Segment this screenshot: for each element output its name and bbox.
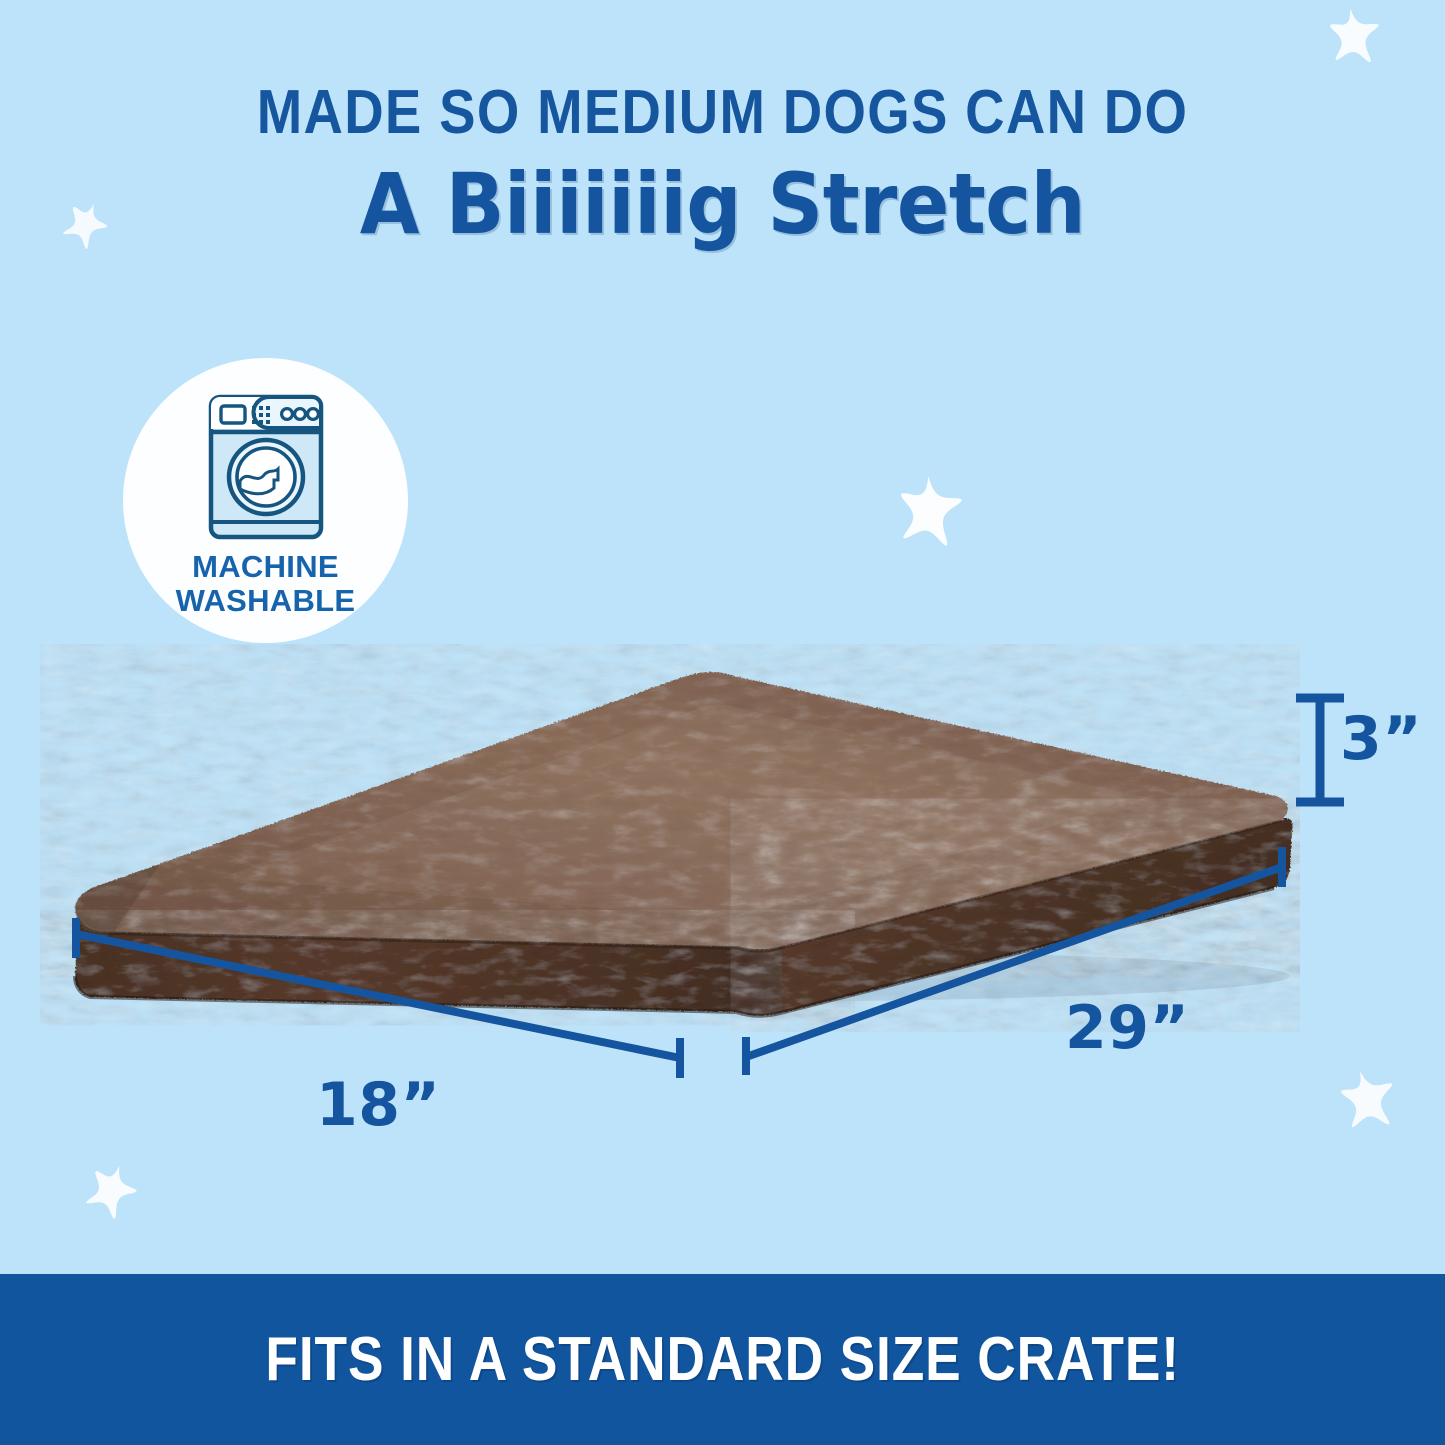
- headline-primary: MADE SO MEDIUM DOGS CAN DO: [87, 78, 1359, 148]
- badge-label-line1: MACHINE: [192, 549, 339, 584]
- dimension-label-length: 29”: [1065, 993, 1189, 1063]
- bottom-banner: FITS IN A STANDARD SIZE CRATE!: [0, 1274, 1445, 1445]
- background-star: [1319, 0, 1393, 73]
- dog-bed-product-image: [40, 620, 1300, 1040]
- washing-machine-icon: [207, 393, 325, 541]
- machine-washable-label: MACHINE WASHABLE: [176, 550, 356, 618]
- background-star: [889, 468, 975, 554]
- infographic-canvas: MADE SO MEDIUM DOGS CAN DO A Biiiiiiig S…: [0, 0, 1445, 1445]
- dimension-label-width: 18”: [316, 1070, 440, 1140]
- headline-secondary: A Biiiiiiig Stretch: [58, 154, 1387, 254]
- dimension-label-height: 3”: [1340, 704, 1422, 774]
- badge-label-line2: WASHABLE: [176, 583, 356, 618]
- banner-text: FITS IN A STANDARD SIZE CRATE!: [265, 1324, 1179, 1395]
- background-star: [1328, 1057, 1413, 1142]
- headline-block: MADE SO MEDIUM DOGS CAN DO A Biiiiiiig S…: [0, 78, 1445, 254]
- machine-washable-badge: MACHINE WASHABLE: [123, 358, 408, 643]
- background-star: [78, 1156, 148, 1226]
